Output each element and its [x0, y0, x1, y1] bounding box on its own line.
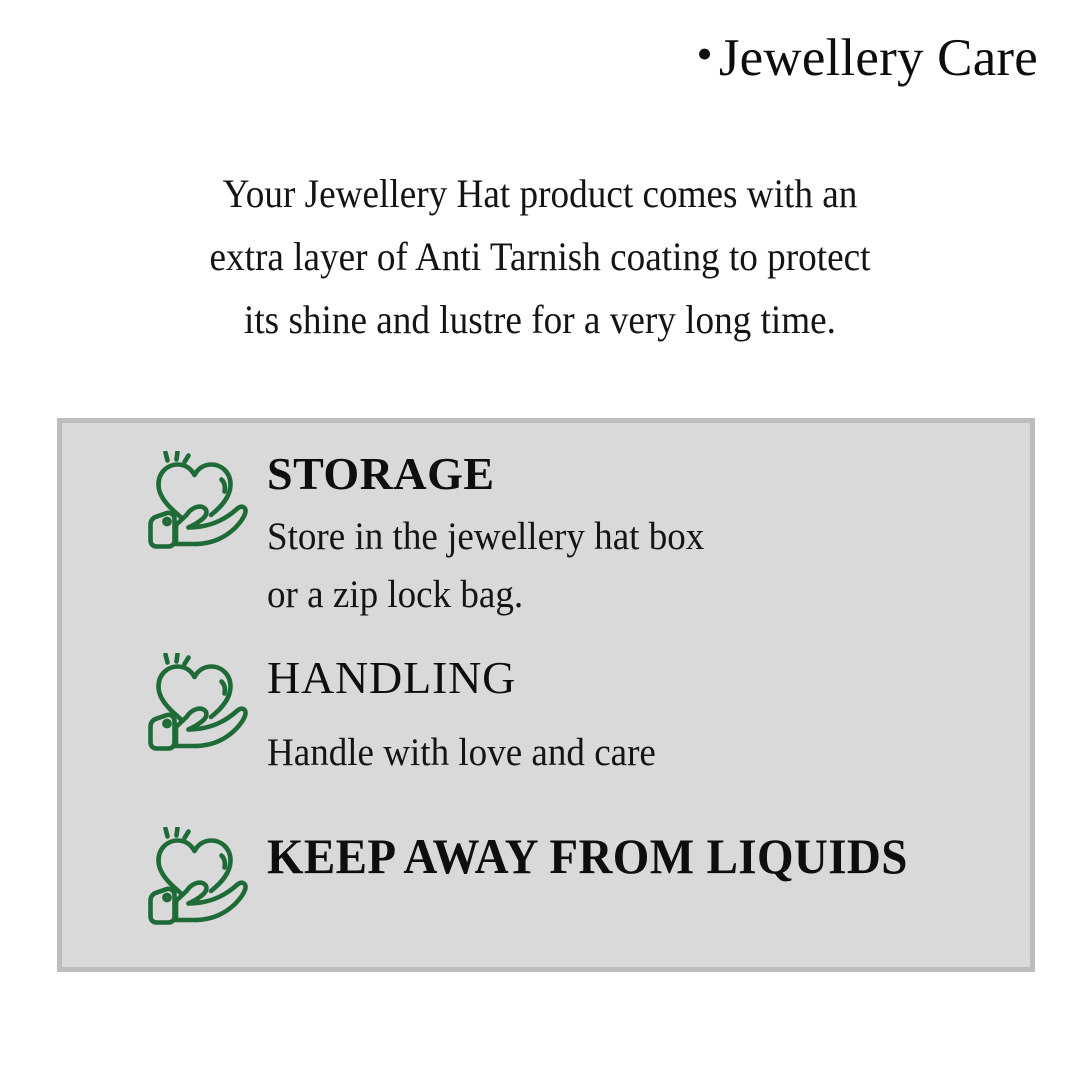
- bullet-icon: •: [697, 28, 713, 81]
- intro-paragraph: Your Jewellery Hat product comes with an…: [94, 162, 987, 351]
- care-section-handling: HANDLING Handle with love and care: [145, 651, 676, 782]
- care-text-handling: Handle with love and care: [267, 724, 656, 782]
- care-section-body: KEEP AWAY FROM LIQUIDS: [267, 823, 949, 882]
- care-text-line: or a zip lock bag.: [267, 566, 704, 624]
- hand-holding-heart-icon: [145, 827, 249, 931]
- page-title-text: Jewellery Care: [719, 29, 1038, 87]
- care-text-line: Store in the jewellery hat box: [267, 508, 704, 566]
- care-text-storage: Store in the jewellery hat box or a zip …: [267, 508, 704, 624]
- care-heading-storage: STORAGE: [267, 451, 727, 498]
- page-title: •Jewellery Care: [0, 28, 1038, 89]
- care-section-body: STORAGE Store in the jewellery hat box o…: [267, 447, 727, 624]
- care-section-liquids: KEEP AWAY FROM LIQUIDS: [145, 823, 949, 931]
- intro-line-1: Your Jewellery Hat product comes with an: [94, 162, 987, 225]
- hand-holding-heart-icon: [145, 653, 249, 757]
- hand-holding-heart-icon: [145, 451, 249, 555]
- care-heading-liquids: KEEP AWAY FROM LIQUIDS: [267, 831, 908, 882]
- care-text-line: Handle with love and care: [267, 724, 656, 782]
- care-section-body: HANDLING Handle with love and care: [267, 651, 676, 782]
- intro-line-3: its shine and lustre for a very long tim…: [94, 288, 987, 351]
- care-heading-handling: HANDLING: [267, 655, 676, 702]
- care-instructions-panel: STORAGE Store in the jewellery hat box o…: [57, 418, 1035, 972]
- intro-line-2: extra layer of Anti Tarnish coating to p…: [94, 225, 987, 288]
- care-section-storage: STORAGE Store in the jewellery hat box o…: [145, 447, 727, 624]
